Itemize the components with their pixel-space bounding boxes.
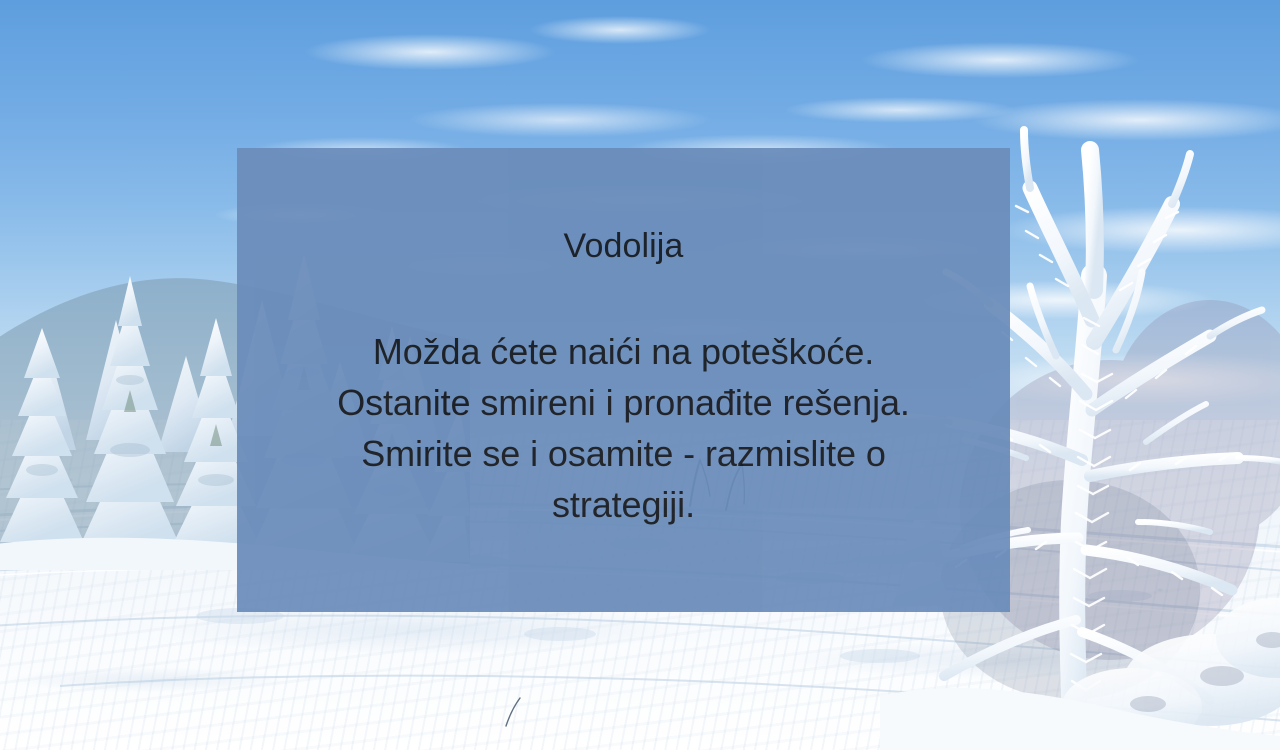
horoscope-card: Vodolija Možda ćete naići na poteškoće. … [0, 0, 1280, 750]
horoscope-line-1: Možda ćete naići na poteškoće. [237, 326, 1010, 377]
zodiac-sign-title: Vodolija [237, 224, 1010, 268]
panel-content: Vodolija Možda ćete naići na poteškoće. … [237, 224, 1010, 536]
horoscope-line-4: strategiji. [237, 479, 1010, 530]
horoscope-text-panel: Vodolija Možda ćete naići na poteškoće. … [237, 148, 1010, 612]
horoscope-line-3: Smirite se i osamite - razmislite o [237, 428, 1010, 479]
horoscope-line-2: Ostanite smireni i pronađite rešenja. [237, 377, 1010, 428]
